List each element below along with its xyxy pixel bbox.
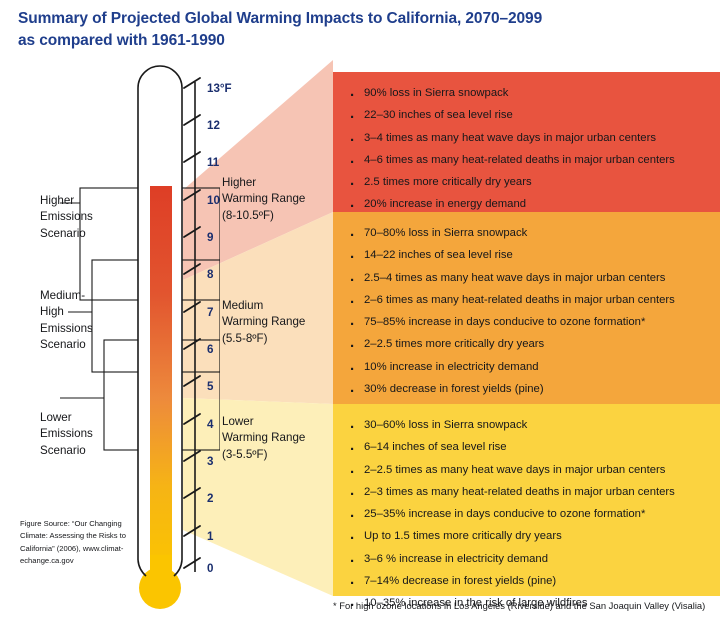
impact-item: 7–14% decrease in forest yields (pine) bbox=[347, 570, 712, 592]
impact-item: 2.5 times more critically dry years bbox=[347, 171, 712, 193]
impact-item: 2.5–4 times as many heat wave days in ma… bbox=[347, 267, 712, 289]
title-line-1: Summary of Projected Global Warming Impa… bbox=[18, 8, 708, 30]
tick-label-5: 5 bbox=[207, 380, 213, 393]
source-line-2: Climate: Assessing the Risks to bbox=[20, 530, 138, 542]
tick-label-9: 9 bbox=[207, 231, 213, 244]
impact-item: 90% loss in Sierra snowpack bbox=[347, 82, 712, 104]
impact-item: 22–30 inches of sea level rise bbox=[347, 104, 712, 126]
impact-panel-higher: 90% loss in Sierra snowpack 22–30 inches… bbox=[333, 72, 720, 212]
impact-item: Up to 1.5 times more critically dry year… bbox=[347, 525, 712, 547]
tick-label-13: 13°F bbox=[207, 82, 232, 95]
impact-item: 4–6 times as many heat-related deaths in… bbox=[347, 149, 712, 171]
tick-label-7: 7 bbox=[207, 306, 213, 319]
tick-label-4: 4 bbox=[207, 418, 213, 431]
impact-item: 2–3 times as many heat-related deaths in… bbox=[347, 481, 712, 503]
impact-item: 30% decrease in forest yields (pine) bbox=[347, 378, 712, 400]
thermometer bbox=[120, 60, 240, 620]
impact-item: 2–2.5 times as many heat wave days in ma… bbox=[347, 459, 712, 481]
impact-item: 14–22 inches of sea level rise bbox=[347, 244, 712, 266]
tick-label-3: 3 bbox=[207, 455, 213, 468]
impact-item: 3–4 times as many heat wave days in majo… bbox=[347, 127, 712, 149]
tick-label-8: 8 bbox=[207, 268, 213, 281]
source-line-4: echange.ca.gov bbox=[20, 555, 138, 567]
impact-item: 3–6 % increase in electricity demand bbox=[347, 548, 712, 570]
tick-label-10: 10 bbox=[207, 194, 220, 207]
tick-label-11: 11 bbox=[207, 156, 219, 169]
thermometer-ticks bbox=[184, 78, 200, 568]
tick-label-1: 1 bbox=[207, 530, 213, 543]
impact-item: 10% increase in electricity demand bbox=[347, 356, 712, 378]
title-line-2: as compared with 1961-1990 bbox=[18, 30, 708, 52]
ozone-footnote: * For high ozone locations in Los Angele… bbox=[333, 600, 720, 611]
page-title: Summary of Projected Global Warming Impa… bbox=[18, 8, 708, 53]
tick-label-2: 2 bbox=[207, 492, 213, 505]
thermometer-mercury bbox=[150, 186, 172, 572]
tick-label-0: 0 bbox=[207, 562, 213, 575]
infographic-root: Summary of Projected Global Warming Impa… bbox=[0, 0, 720, 620]
figure-source-citation: Figure Source: “Our Changing Climate: As… bbox=[20, 518, 138, 567]
source-line-1: Figure Source: “Our Changing bbox=[20, 518, 138, 530]
source-line-3: California” (2006), www.climat- bbox=[20, 543, 138, 555]
tick-label-12: 12 bbox=[207, 119, 220, 132]
impact-item: 25–35% increase in days conducive to ozo… bbox=[347, 503, 712, 525]
tick-label-6: 6 bbox=[207, 343, 213, 356]
